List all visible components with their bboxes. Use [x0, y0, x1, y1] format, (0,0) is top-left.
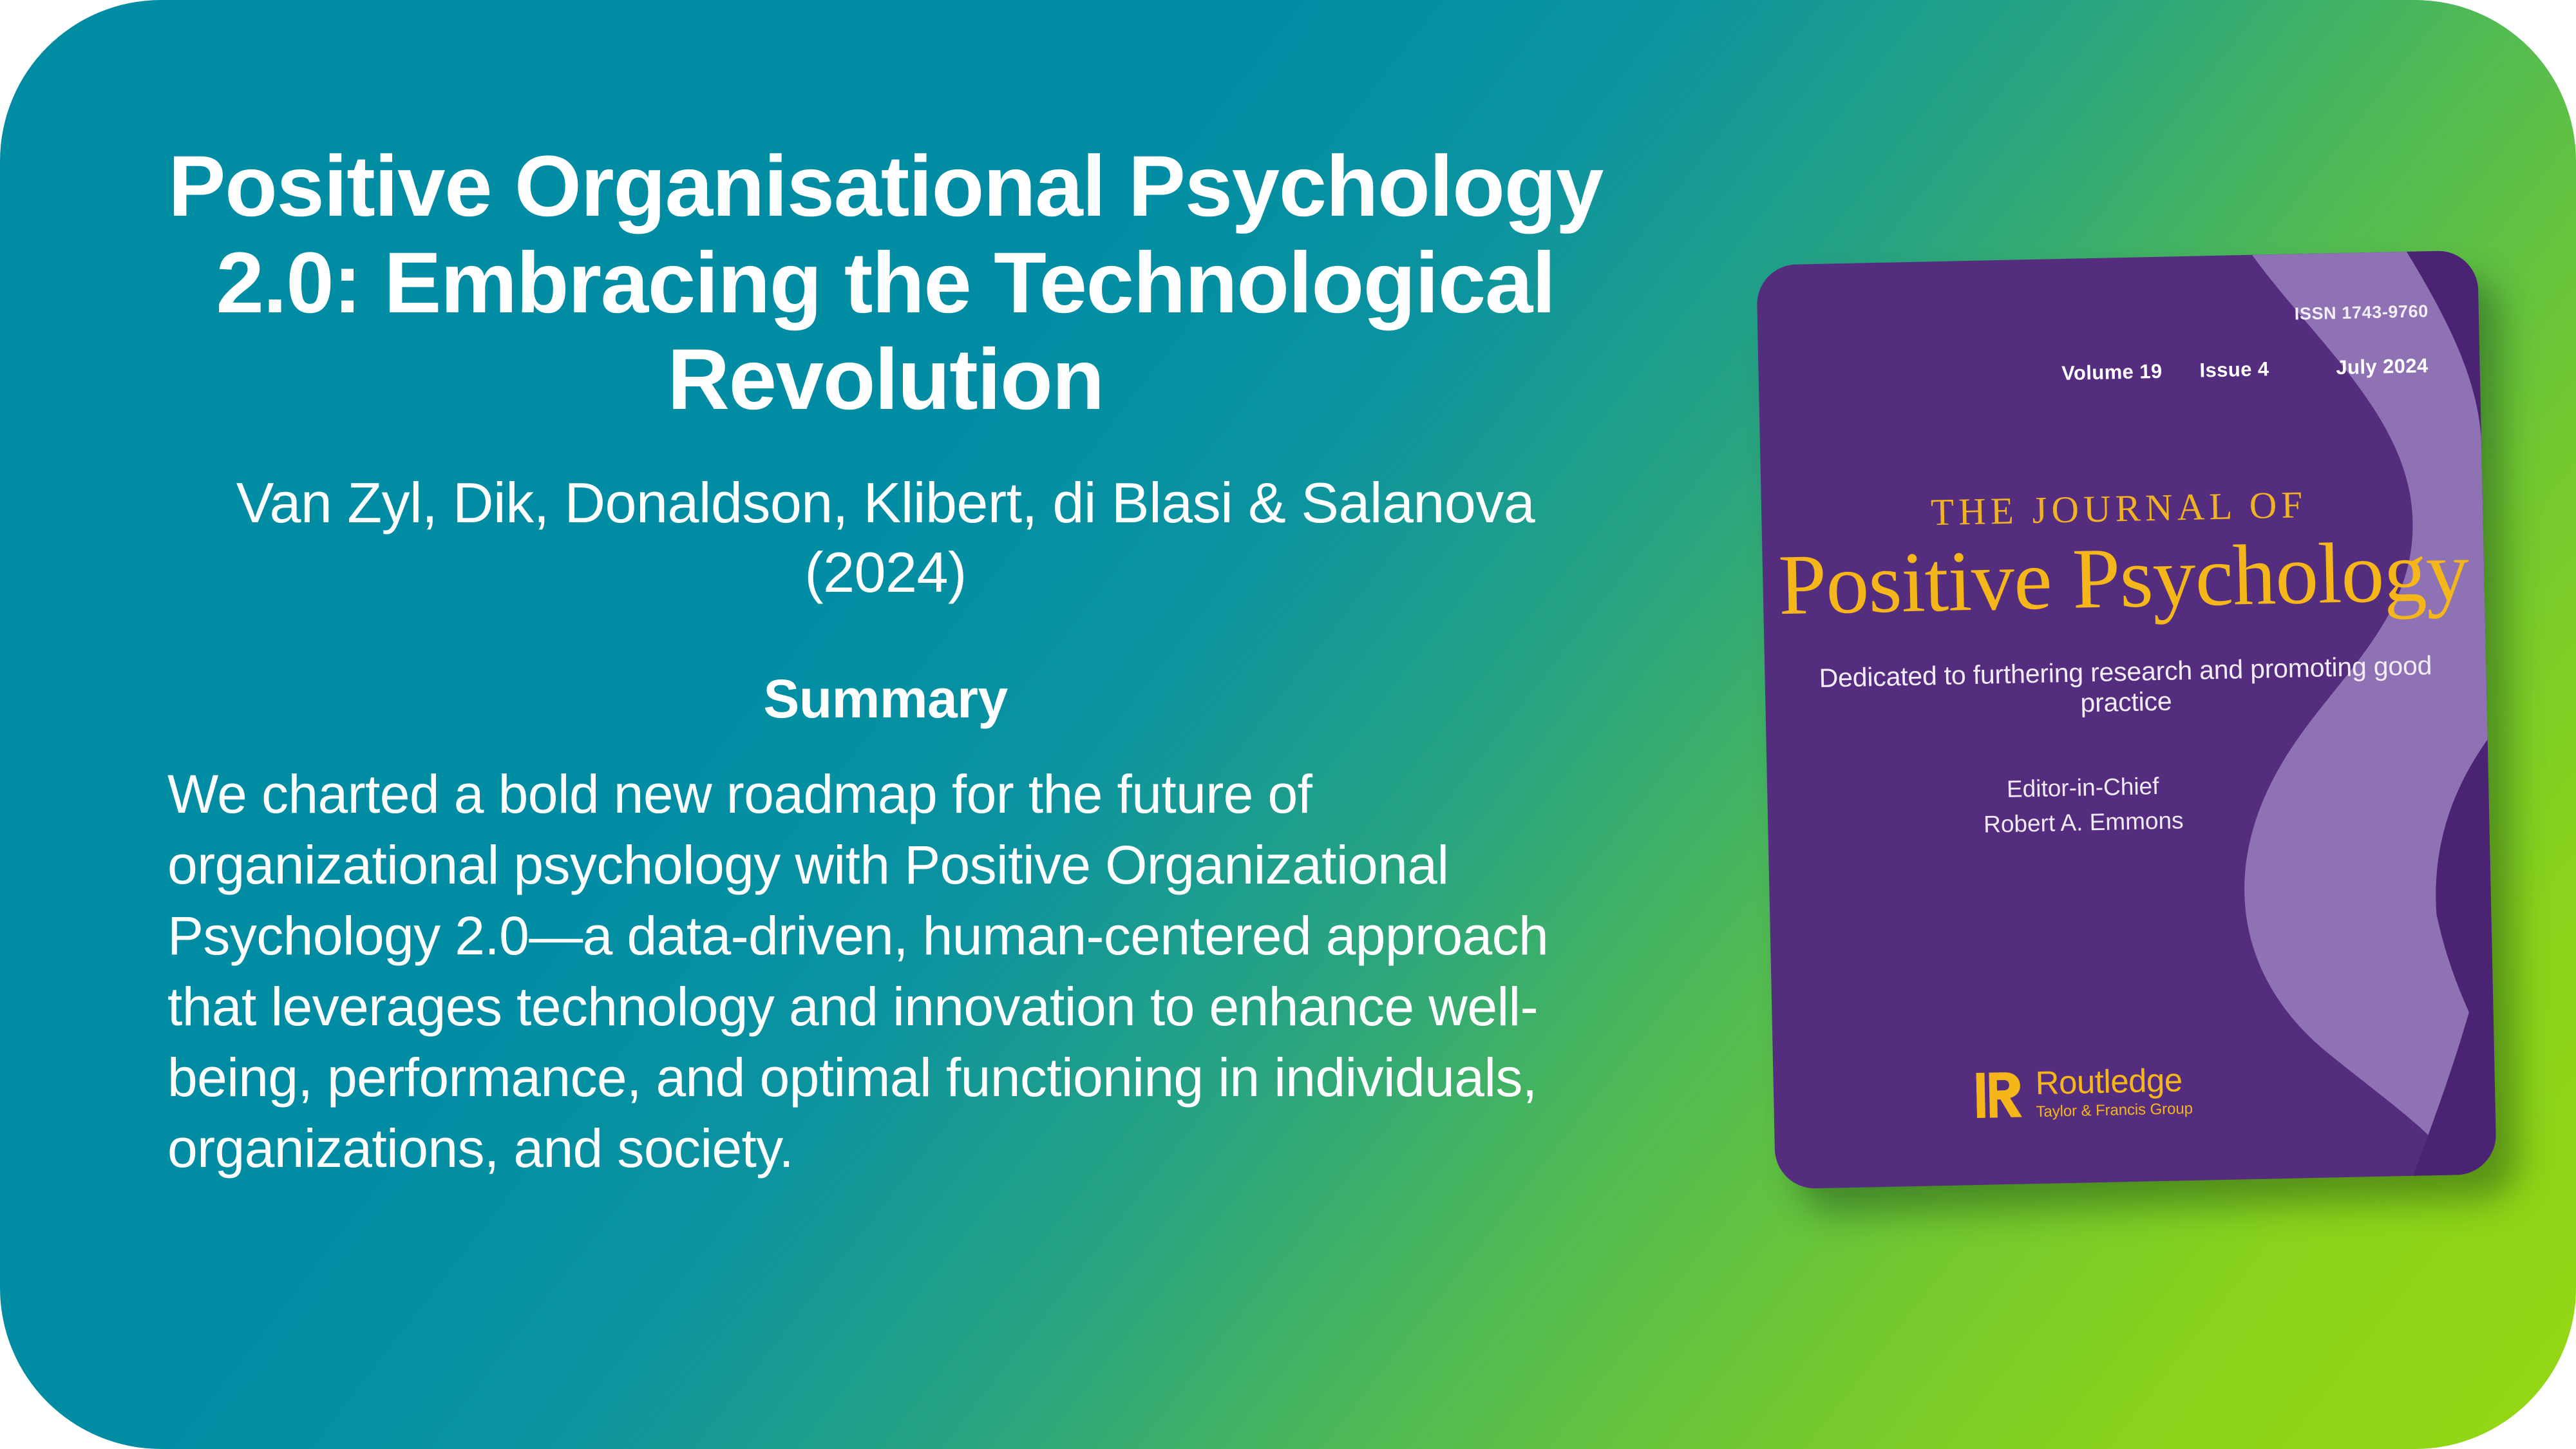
- summary-body: We charted a bold new roadmap for the fu…: [129, 759, 1642, 1184]
- issue-metadata-row: Volume 19Issue 4July 2024: [1758, 354, 2429, 392]
- journal-tagline: Dedicated to furthering research and pro…: [1765, 649, 2487, 724]
- journal-cover-card: ISSN 1743-9760 Volume 19Issue 4July 2024…: [1756, 250, 2497, 1189]
- summary-heading: Summary: [129, 668, 1642, 730]
- issue-label: Issue 4: [2199, 357, 2269, 382]
- issn-label: ISSN 1743-9760: [2295, 301, 2429, 324]
- journal-cover: ISSN 1743-9760 Volume 19Issue 4July 2024…: [1756, 250, 2497, 1189]
- page-title: Positive Organisational Psychology 2.0: …: [129, 138, 1642, 428]
- routledge-r-icon: [1976, 1069, 2025, 1121]
- editor-block: Editor-in-Chief Robert A. Emmons: [1767, 762, 2490, 846]
- volume-label: Volume 19: [2061, 360, 2163, 385]
- publisher-logo: Routledge Taylor & Francis Group: [1773, 1057, 2495, 1128]
- article-text-column: Positive Organisational Psychology 2.0: …: [129, 138, 1642, 1184]
- cover-content: ISSN 1743-9760 Volume 19Issue 4July 2024…: [1756, 250, 2497, 1189]
- journal-name: Positive Psychology: [1762, 523, 2485, 633]
- slide-card: Positive Organisational Psychology 2.0: …: [0, 0, 2576, 1449]
- authors-line: Van Zyl, Dik, Donaldson, Klibert, di Bla…: [129, 468, 1642, 607]
- issue-date-label: July 2024: [2336, 354, 2429, 379]
- publisher-group: Taylor & Francis Group: [2036, 1099, 2193, 1122]
- publisher-wordmark: Routledge Taylor & Francis Group: [2035, 1063, 2193, 1122]
- publisher-name: Routledge: [2035, 1063, 2192, 1099]
